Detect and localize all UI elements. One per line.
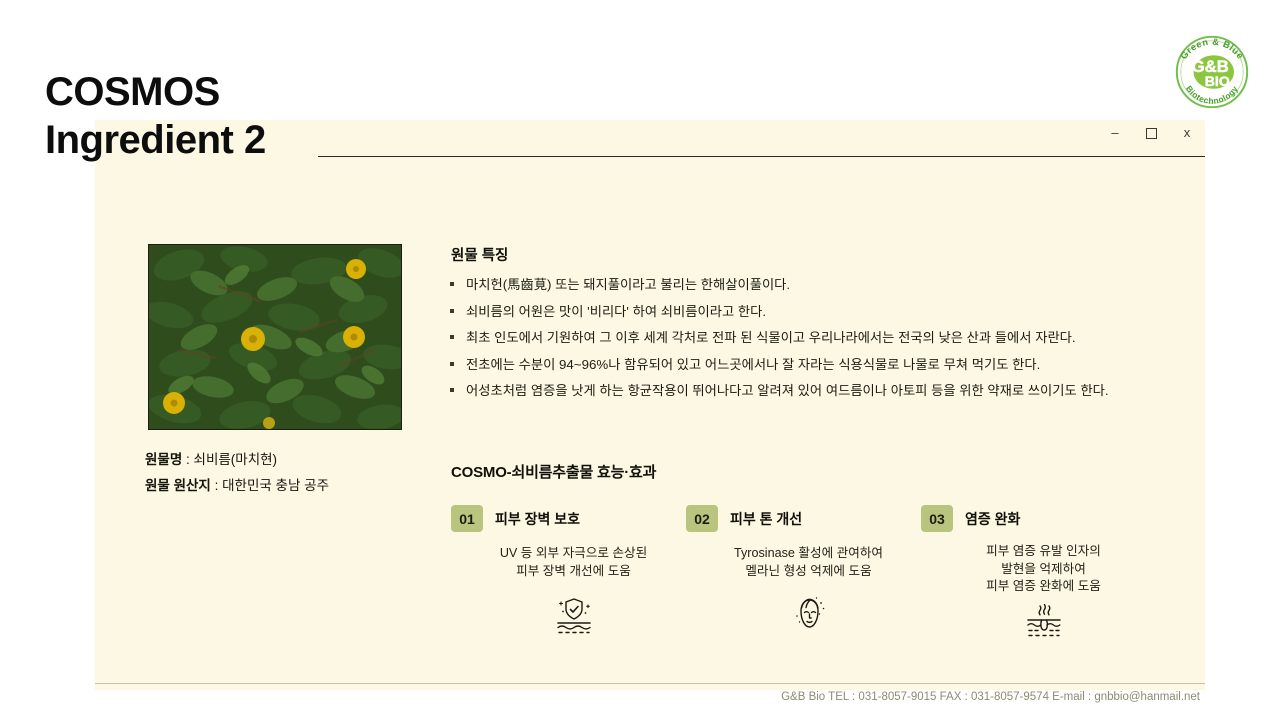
efficacy-card-3: 03 염증 완화 피부 염증 유발 인자의 발현을 억제하여 피부 염증 완화에… <box>921 505 1156 648</box>
card-header: 03 염증 완화 <box>921 505 1156 532</box>
photo-caption: 원물명 : 쇠비름(마치현) 원물 원산지 : 대한민국 충남 공주 <box>145 447 475 499</box>
card-body-line-2: 멜라닌 형성 억제에 도움 <box>696 563 921 581</box>
card-body-line-2: 피부 장벽 개선에 도움 <box>461 563 686 581</box>
efficacy-card-2: 02 피부 톤 개선 Tyrosinase 활성에 관여하여 멜라닌 형성 억제… <box>686 505 921 640</box>
title-divider <box>318 156 1205 157</box>
caption-name-label: 원물명 <box>145 452 182 467</box>
footer-divider <box>95 683 1205 684</box>
card-body: Tyrosinase 활성에 관여하여 멜라닌 형성 억제에 도움 <box>686 545 921 580</box>
window-controls: – x <box>1108 126 1194 140</box>
purslane-photo <box>148 244 402 430</box>
card-title: 염증 완화 <box>965 509 1020 529</box>
card-title: 피부 장벽 보호 <box>495 509 580 529</box>
svg-text:BIO: BIO <box>1205 73 1230 89</box>
list-item: 마치헌(馬齒莧) 또는 돼지풀이라고 불리는 한해살이풀이다. <box>448 276 1148 293</box>
card-body: 피부 염증 유발 인자의 발현을 억제하여 피부 염증 완화에 도움 <box>921 543 1156 596</box>
slide-root: Green & Blue Biotechnology G&B BIO COSMO… <box>0 0 1280 720</box>
gnb-bio-logo: Green & Blue Biotechnology G&B BIO <box>1168 28 1256 116</box>
card-body-line-3: 피부 염증 완화에 도움 <box>931 578 1156 596</box>
minimize-icon[interactable]: – <box>1108 126 1122 140</box>
maximize-icon[interactable] <box>1144 126 1158 140</box>
caption-origin-row: 원물 원산지 : 대한민국 충남 공주 <box>145 473 475 499</box>
efficacy-card-1: 01 피부 장벽 보호 UV 등 외부 자극으로 손상된 피부 장벽 개선에 도… <box>451 505 686 640</box>
caption-origin-value: : 대한민국 충남 공주 <box>215 478 329 493</box>
caption-origin-label: 원물 원산지 <box>145 478 211 493</box>
caption-name-value: : 쇠비름(마치현) <box>186 452 277 467</box>
face-glow-icon <box>686 594 921 640</box>
card-header: 01 피부 장벽 보호 <box>451 505 686 532</box>
card-body-line-1: 피부 염증 유발 인자의 <box>931 543 1156 561</box>
title-line-1: COSMOS <box>45 68 266 116</box>
card-body-line-1: UV 등 외부 자극으로 손상된 <box>461 545 686 563</box>
title-line-2: Ingredient 2 <box>45 116 266 164</box>
list-item: 최초 인도에서 기원하여 그 이후 세계 각처로 전파 된 식물이고 우리나라에… <box>448 329 1148 346</box>
close-icon[interactable]: x <box>1180 126 1194 140</box>
efficacy-cards: 01 피부 장벽 보호 UV 등 외부 자극으로 손상된 피부 장벽 개선에 도… <box>451 505 1171 665</box>
card-title: 피부 톤 개선 <box>730 509 802 529</box>
card-number-badge: 03 <box>921 505 953 532</box>
list-item: 전초에는 수분이 94~96%나 함유되어 있고 어느곳에서나 잘 자라는 식용… <box>448 356 1148 373</box>
footer-contact: G&B Bio TEL : 031-8057-9015 FAX : 031-80… <box>781 691 1200 703</box>
card-number-badge: 02 <box>686 505 718 532</box>
card-body-line-2: 발현을 억제하여 <box>931 561 1156 579</box>
card-number-badge: 01 <box>451 505 483 532</box>
skin-inflammation-icon <box>921 602 1156 648</box>
efficacy-heading: COSMO-쇠비름추출물 효능·효과 <box>451 461 656 482</box>
card-body: UV 등 외부 자극으로 손상된 피부 장벽 개선에 도움 <box>451 545 686 580</box>
list-item: 쇠비름의 어원은 맛이 '비리다' 하여 쇠비름이라고 한다. <box>448 303 1148 320</box>
list-item: 어성초처럼 염증을 낫게 하는 항균작용이 뛰어나다고 알려져 있어 여드름이나… <box>448 382 1148 399</box>
features-bullet-list: 마치헌(馬齒莧) 또는 돼지풀이라고 불리는 한해살이풀이다. 쇠비름의 어원은… <box>448 276 1148 409</box>
features-heading: 원물 특징 <box>451 244 508 265</box>
card-header: 02 피부 톤 개선 <box>686 505 921 532</box>
page-title: COSMOS Ingredient 2 <box>45 68 266 164</box>
shield-skin-barrier-icon <box>451 594 686 640</box>
card-body-line-1: Tyrosinase 활성에 관여하여 <box>696 545 921 563</box>
caption-name-row: 원물명 : 쇠비름(마치현) <box>145 447 475 473</box>
